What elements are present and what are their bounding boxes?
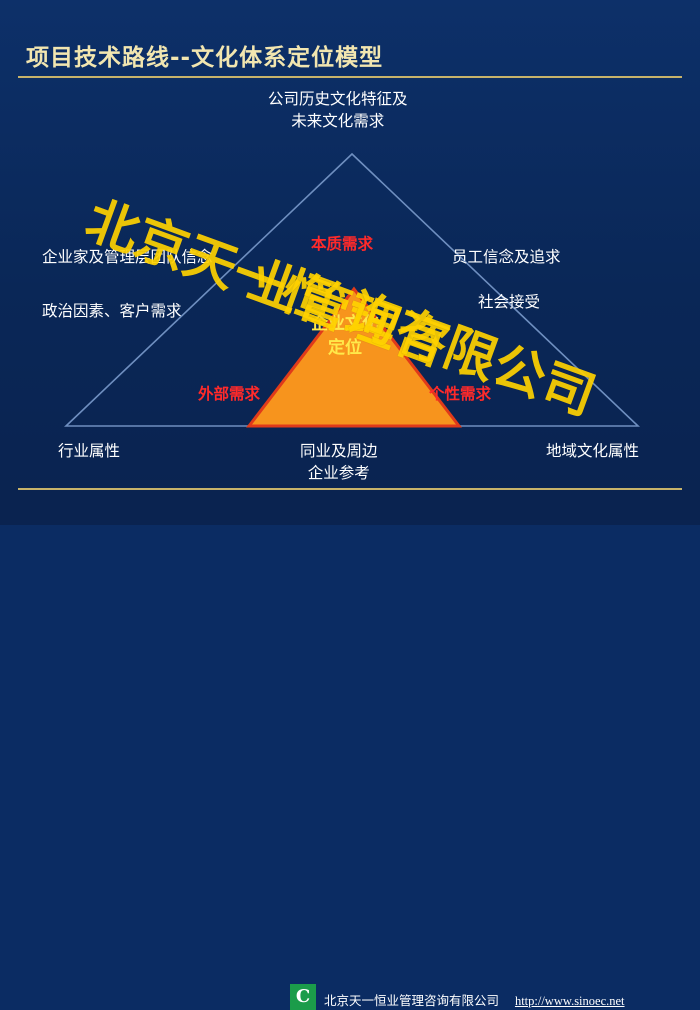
- footer-url[interactable]: http://www.sinoec.net: [515, 994, 625, 1008]
- label-bottom-mid-line1: 同业及周边: [300, 440, 378, 462]
- label-external-need: 外部需求: [198, 383, 260, 405]
- slide-canvas: 项目技术路线--文化体系定位模型 公司历史文化特征及 未来文化需求 本质需求 企…: [0, 0, 700, 525]
- company-logo-glyph: C: [296, 988, 310, 1006]
- label-top-need: 公司历史文化特征及 未来文化需求: [268, 88, 408, 132]
- label-core-line1: 企业文化: [311, 312, 379, 336]
- label-right-upper: 员工信念及追求: [452, 246, 561, 268]
- label-top-need-line2: 未来文化需求: [268, 110, 408, 132]
- title-divider: [18, 76, 682, 78]
- company-logo-icon: C: [290, 984, 316, 1010]
- footer-bar: C 北京天一恒业管理咨询有限公司 http://www.sinoec.net: [0, 490, 700, 525]
- label-bottom-right: 地域文化属性: [546, 440, 639, 462]
- label-left-upper: 企业家及管理层团队信念: [42, 246, 213, 268]
- page-title: 项目技术路线--文化体系定位模型: [26, 38, 383, 72]
- footer-company-name: 北京天一恒业管理咨询有限公司: [324, 993, 499, 1008]
- label-personal-need: 个性需求: [429, 383, 491, 405]
- label-core-position: 企业文化 定位: [311, 312, 379, 360]
- label-essential-need: 本质需求: [311, 233, 373, 255]
- label-bottom-left: 行业属性: [58, 440, 120, 462]
- footer-text: 北京天一恒业管理咨询有限公司 http://www.sinoec.net: [324, 990, 625, 1009]
- label-top-need-line1: 公司历史文化特征及: [268, 88, 408, 110]
- label-right-lower: 社会接受: [478, 291, 540, 313]
- label-core-line2: 定位: [311, 336, 379, 360]
- label-bottom-mid: 同业及周边 企业参考: [300, 440, 378, 484]
- label-bottom-mid-line2: 企业参考: [300, 462, 378, 484]
- label-left-lower: 政治因素、客户需求: [42, 300, 182, 322]
